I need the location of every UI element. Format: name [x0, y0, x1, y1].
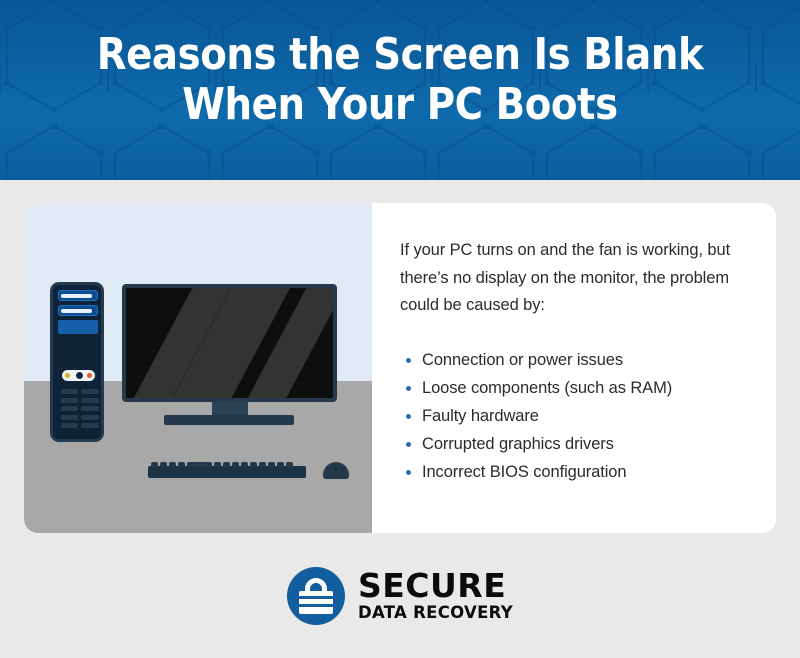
list-item: Connection or power issues: [400, 346, 748, 374]
computer-tower-icon: [50, 282, 104, 442]
optical-drive-bay-2: [58, 305, 98, 316]
page-title-line-2: When Your PC Boots: [48, 80, 752, 130]
keyboard-icon: [148, 466, 306, 478]
padlock-body: [299, 591, 333, 614]
intro-paragraph: If your PC turns on and the fan is worki…: [400, 237, 748, 320]
desktop-computer-illustration: [24, 203, 372, 533]
page-title: Reasons the Screen Is Blank When Your PC…: [48, 30, 752, 130]
monitor-screen: [126, 288, 333, 398]
page-title-line-1: Reasons the Screen Is Blank: [48, 30, 752, 80]
brand-name: SECURE DATA RECOVERY: [358, 569, 513, 622]
text-panel: If your PC turns on and the fan is worki…: [372, 203, 776, 533]
monitor-icon: [122, 284, 337, 402]
optical-drive-bay-1: [58, 290, 98, 301]
tower-accent-panel: [58, 320, 98, 334]
tower-vent-slots: [61, 389, 101, 432]
footer: SECURE DATA RECOVERY: [0, 533, 800, 658]
brand-name-primary: SECURE: [358, 569, 513, 602]
header-banner: Reasons the Screen Is Blank When Your PC…: [0, 0, 800, 180]
content-card: If your PC turns on and the fan is worki…: [24, 203, 776, 533]
led-indicator-orange: [87, 373, 92, 378]
power-button-icon: [75, 371, 84, 380]
monitor-stand-base: [164, 415, 294, 425]
list-item: Faulty hardware: [400, 402, 748, 430]
padlock-icon: [287, 567, 345, 625]
led-indicator-yellow: [65, 373, 70, 378]
infographic-page: Reasons the Screen Is Blank When Your PC…: [0, 0, 800, 658]
list-item: Corrupted graphics drivers: [400, 430, 748, 458]
brand-logo[interactable]: SECURE DATA RECOVERY: [287, 567, 513, 625]
power-button-cluster: [62, 370, 95, 381]
list-item: Incorrect BIOS configuration: [400, 458, 748, 486]
list-item: Loose components (such as RAM): [400, 374, 748, 402]
brand-name-secondary: DATA RECOVERY: [358, 605, 513, 622]
cause-list: Connection or power issues Loose compone…: [400, 346, 748, 486]
